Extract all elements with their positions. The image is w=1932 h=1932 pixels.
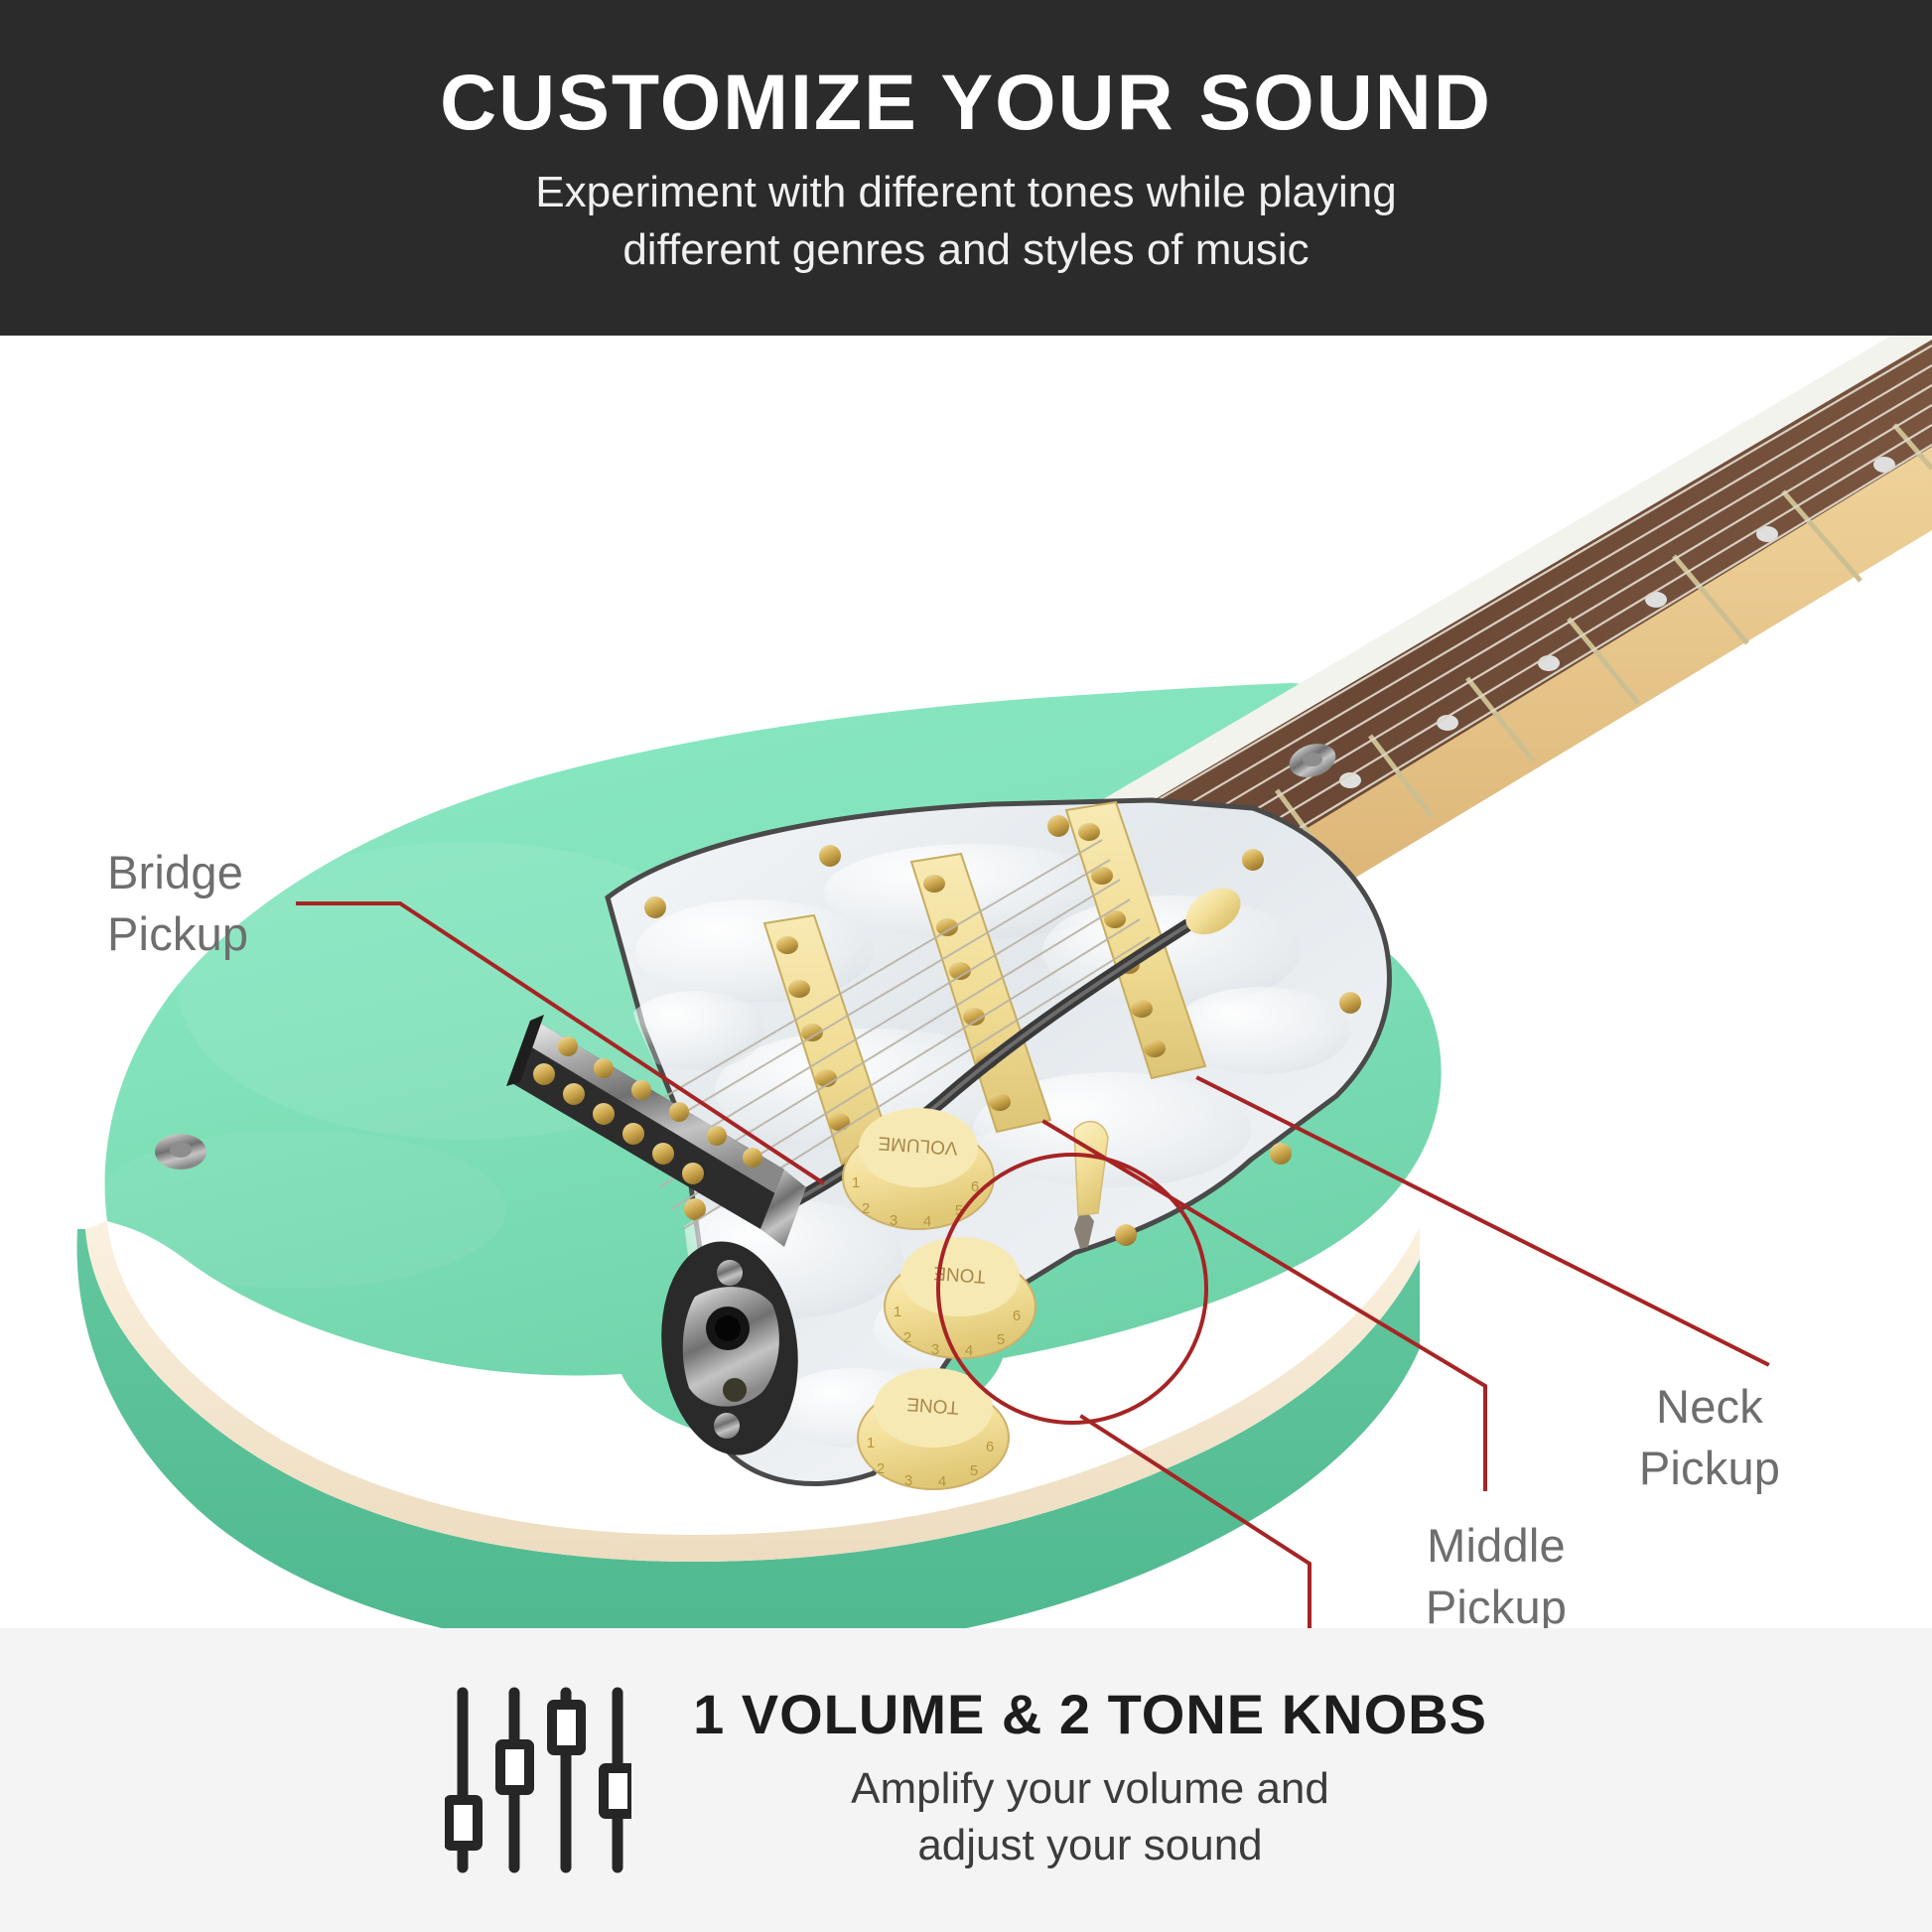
sliders-icon xyxy=(445,1683,631,1877)
svg-text:2: 2 xyxy=(903,1329,911,1346)
jack-screw-lower-inner xyxy=(723,1378,747,1402)
footer-content: 1 VOLUME & 2 TONE KNOBS Amplify your vol… xyxy=(445,1683,1487,1877)
svg-text:5: 5 xyxy=(970,1462,978,1479)
svg-text:3: 3 xyxy=(931,1341,939,1358)
slider-thumb-4[interactable] xyxy=(604,1768,631,1814)
jack-screw-top xyxy=(717,1260,743,1286)
svg-text:2: 2 xyxy=(862,1200,870,1217)
callout-label-neck-pickup: Neck Pickup xyxy=(1639,1376,1780,1499)
svg-text:5: 5 xyxy=(997,1331,1005,1348)
strap-button-lower xyxy=(155,1134,207,1170)
header-banner: CUSTOMIZE YOUR SOUND Experiment with dif… xyxy=(0,0,1932,336)
callout-bridge-line-2: Pickup xyxy=(107,907,248,960)
slider-thumb-1[interactable] xyxy=(449,1800,478,1846)
svg-text:4: 4 xyxy=(965,1342,973,1359)
footer-title: 1 VOLUME & 2 TONE KNOBS xyxy=(693,1686,1487,1744)
svg-text:6: 6 xyxy=(986,1439,994,1455)
slider-thumb-2[interactable] xyxy=(500,1744,529,1790)
footer-subtitle-line-2: adjust your sound xyxy=(917,1821,1262,1869)
callout-middle-line-2: Pickup xyxy=(1426,1581,1567,1628)
callout-label-middle-pickup: Middle Pickup xyxy=(1426,1515,1567,1628)
footer-subtitle: Amplify your volume and adjust your soun… xyxy=(851,1760,1329,1873)
header-subtitle: Experiment with different tones while pl… xyxy=(535,164,1396,279)
header-subtitle-line-2: different genres and styles of music xyxy=(622,225,1309,274)
callout-middle-line-1: Middle xyxy=(1427,1519,1566,1572)
jack-hole-inner xyxy=(715,1315,741,1341)
body-sheen-2 xyxy=(89,1130,506,1289)
svg-text:4: 4 xyxy=(923,1213,931,1230)
slider-thumb-3[interactable] xyxy=(552,1705,581,1750)
jack-screw-bottom xyxy=(714,1413,740,1439)
callout-neck-line-1: Neck xyxy=(1656,1380,1763,1433)
header-subtitle-line-1: Experiment with different tones while pl… xyxy=(535,168,1396,216)
svg-text:1: 1 xyxy=(852,1174,860,1191)
footer-text-block: 1 VOLUME & 2 TONE KNOBS Amplify your vol… xyxy=(693,1686,1487,1873)
footer-banner: 1 VOLUME & 2 TONE KNOBS Amplify your vol… xyxy=(0,1628,1932,1932)
footer-subtitle-line-1: Amplify your volume and xyxy=(851,1764,1329,1813)
svg-text:2: 2 xyxy=(877,1460,885,1477)
svg-text:1: 1 xyxy=(867,1435,875,1451)
svg-text:4: 4 xyxy=(938,1473,946,1490)
page-title: CUSTOMIZE YOUR SOUND xyxy=(440,63,1492,143)
callout-bridge-line-1: Bridge xyxy=(107,846,243,898)
svg-text:3: 3 xyxy=(890,1212,897,1229)
svg-text:3: 3 xyxy=(904,1472,912,1489)
product-photo-stage: VOLUME 12 34 56 TONE 12 34 56 xyxy=(0,336,1932,1628)
callout-neck-line-2: Pickup xyxy=(1639,1442,1780,1494)
callout-label-bridge-pickup: Bridge Pickup xyxy=(107,842,248,965)
svg-text:6: 6 xyxy=(1013,1308,1021,1324)
tone-knob-lower-text: TONE xyxy=(906,1393,960,1418)
svg-text:1: 1 xyxy=(894,1304,901,1320)
